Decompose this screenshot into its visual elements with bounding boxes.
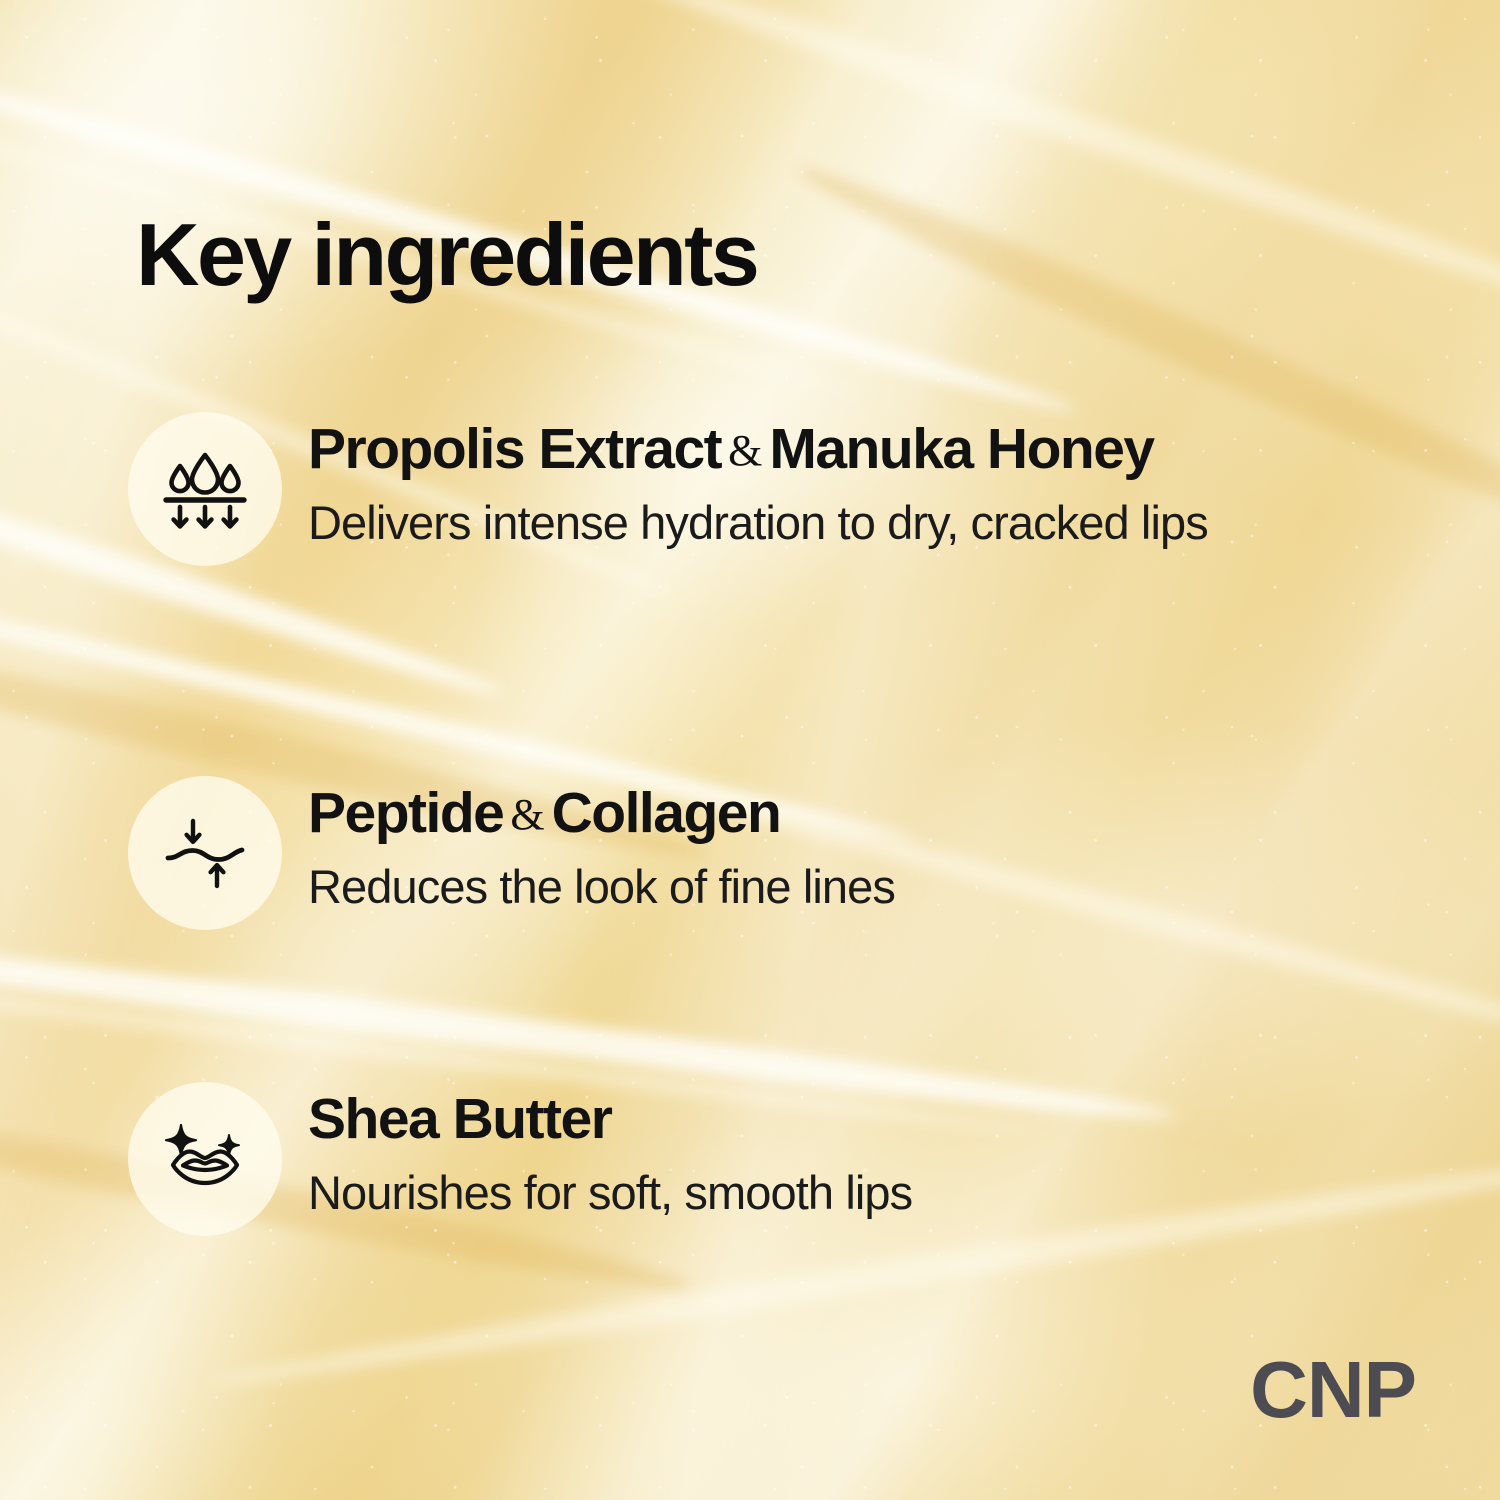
ingredient-description: Delivers intense hydration to dry, crack… — [308, 492, 1208, 554]
brand-logo: CNP — [1250, 1350, 1416, 1430]
ingredient-name: Peptide&Collagen — [308, 784, 895, 842]
page-title: Key ingredients — [136, 211, 757, 299]
ingredient-name-conjunction: & — [503, 790, 551, 839]
ingredient-name-part-1: Propolis Extract — [308, 417, 721, 481]
ingredient-description: Reduces the look of fine lines — [308, 856, 895, 918]
ingredient-name-part-1: Shea Butter — [308, 1087, 611, 1151]
ingredient-text: Propolis Extract&Manuka Honey Delivers i… — [308, 412, 1208, 554]
ingredient-name-conjunction: & — [721, 426, 769, 475]
ingredient-name-part-1: Peptide — [308, 781, 503, 845]
ingredient-icon-badge — [128, 1082, 282, 1236]
ingredient-text: Peptide&Collagen Reduces the look of fin… — [308, 776, 895, 918]
ingredient-item: Shea Butter Nourishes for soft, smooth l… — [128, 1082, 912, 1236]
product-ingredients-infographic: Key ingredients — [0, 0, 1500, 1500]
ingredient-name-part-2: Collagen — [552, 781, 781, 845]
wrinkle-smoothing-icon — [159, 807, 251, 899]
ingredient-item: Propolis Extract&Manuka Honey Delivers i… — [128, 412, 1208, 566]
ingredient-name-part-2: Manuka Honey — [769, 417, 1153, 481]
ingredient-item: Peptide&Collagen Reduces the look of fin… — [128, 776, 895, 930]
content-layer: Key ingredients — [0, 0, 1500, 1500]
ingredient-text: Shea Butter Nourishes for soft, smooth l… — [308, 1082, 912, 1224]
water-drops-absorption-icon — [159, 443, 251, 535]
ingredient-name: Propolis Extract&Manuka Honey — [308, 420, 1208, 478]
sparkling-lips-icon — [159, 1113, 251, 1205]
ingredient-icon-badge — [128, 776, 282, 930]
ingredient-icon-badge — [128, 412, 282, 566]
ingredient-description: Nourishes for soft, smooth lips — [308, 1162, 912, 1224]
ingredient-name: Shea Butter — [308, 1090, 912, 1148]
